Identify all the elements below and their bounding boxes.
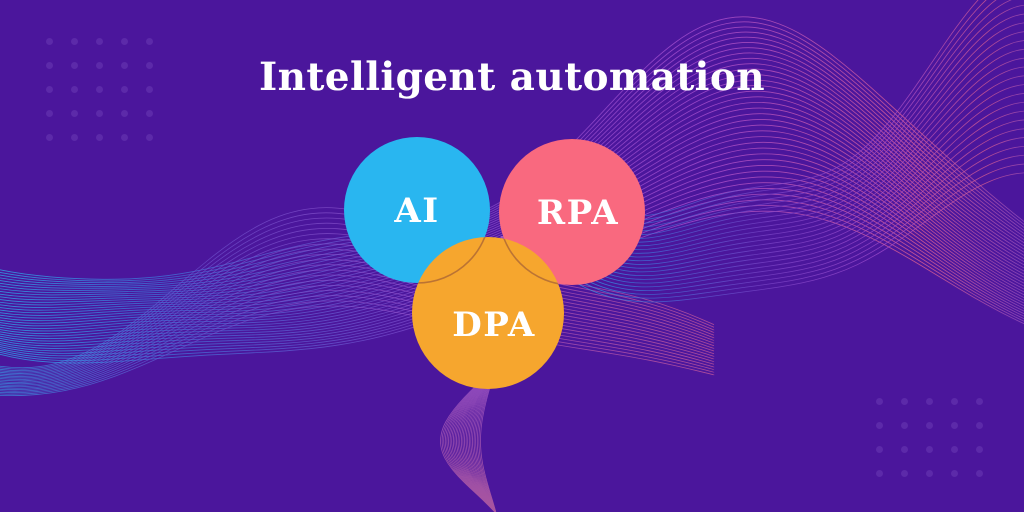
page-title: Intelligent automation <box>0 56 1024 99</box>
venn-label-ai: AI <box>393 191 439 231</box>
venn-label-rpa: RPA <box>537 193 619 233</box>
venn-label-dpa: DPA <box>452 305 535 345</box>
banner-canvas: AI RPA DPA Intelligent automation <box>0 0 1024 512</box>
